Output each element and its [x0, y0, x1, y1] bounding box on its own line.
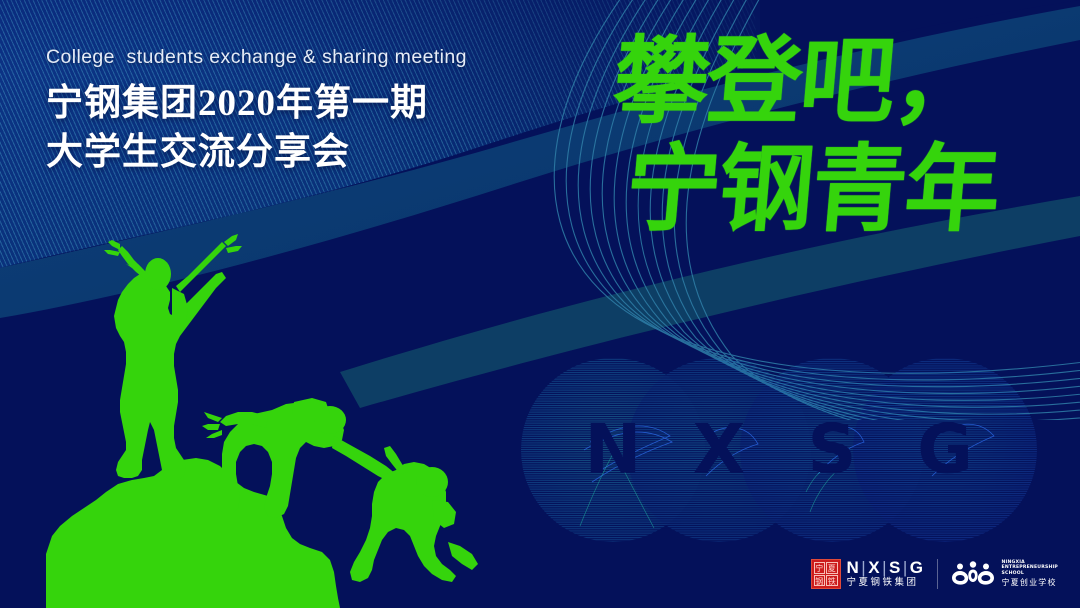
- company-logo: 宁 夏 钢 铁 N|X|S|G 宁夏钢铁集团: [811, 559, 925, 589]
- slogan-line-1: 攀登吧，: [609, 30, 1080, 134]
- headline-line-1: 宁钢集团2020年第一期: [46, 80, 516, 127]
- three-people-infinity-icon: [951, 561, 995, 587]
- school-wordmark: NINGXIA ENTREPRENEURSHIP SCHOOL 宁夏创业学校: [1001, 560, 1058, 589]
- eyebrow-text: College students exchange & sharing meet…: [46, 46, 516, 69]
- headline-line-2: 大学生交流分享会: [46, 129, 516, 176]
- company-separator-3: |: [903, 558, 909, 577]
- circle-letter-s: S: [808, 411, 857, 490]
- company-separator-2: |: [882, 558, 888, 577]
- seal-char-3: 钢: [814, 575, 826, 587]
- seal-char-4: 铁: [826, 575, 838, 587]
- slogan-line-2: 宁钢青年: [621, 138, 1080, 242]
- company-letter-x: X: [868, 558, 881, 577]
- climber-helper: [202, 398, 396, 518]
- logo-divider: [937, 559, 938, 589]
- seal-char-2: 夏: [826, 562, 838, 574]
- circle-letter-g: G: [917, 411, 973, 490]
- circle-letter-n: N: [585, 411, 642, 490]
- company-separator-1: |: [861, 558, 867, 577]
- school-logo: NINGXIA ENTREPRENEURSHIP SCHOOL 宁夏创业学校: [951, 560, 1058, 589]
- climber-illustration: [0, 224, 520, 608]
- slogan-block: 攀登吧， 宁钢青年: [608, 30, 1078, 242]
- company-letters: N|X|S|G: [847, 559, 925, 577]
- poster-canvas: College students exchange & sharing meet…: [0, 0, 1080, 608]
- company-seal-icon: 宁 夏 钢 铁: [811, 559, 841, 589]
- company-cn-name: 宁夏钢铁集团: [847, 577, 925, 589]
- school-en-line-3: SCHOOL: [1001, 571, 1058, 577]
- company-letter-s: S: [889, 558, 902, 577]
- rock-silhouette: [46, 458, 340, 608]
- logo-bar: 宁 夏 钢 铁 N|X|S|G 宁夏钢铁集团: [811, 554, 1058, 594]
- school-cn-name: 宁夏创业学校: [1001, 577, 1058, 588]
- nxsg-circle-band: N X S G: [520, 350, 1080, 550]
- company-letter-n: N: [847, 558, 861, 577]
- climber-summit: [104, 234, 242, 480]
- seal-char-1: 宁: [814, 562, 826, 574]
- headline-block: College students exchange & sharing meet…: [46, 46, 516, 176]
- circle-letter-x: X: [693, 411, 745, 490]
- company-wordmark: N|X|S|G 宁夏钢铁集团: [847, 559, 925, 589]
- company-letter-g: G: [910, 558, 925, 577]
